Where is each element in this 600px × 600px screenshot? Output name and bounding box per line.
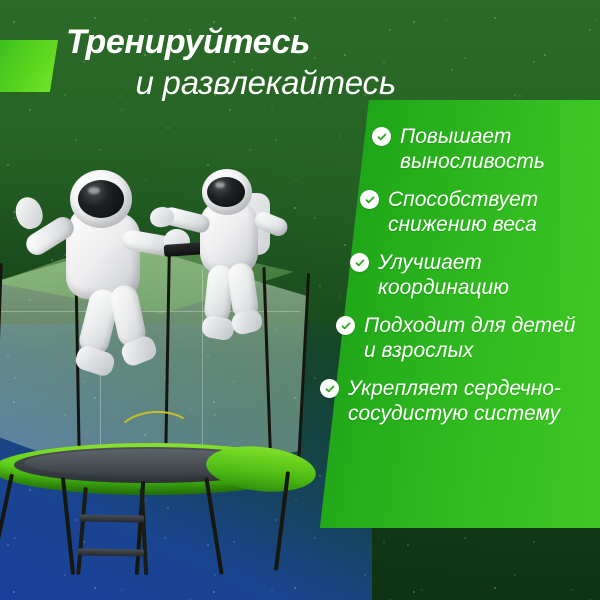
trampoline-illustration: [0, 215, 340, 575]
ladder-step: [80, 514, 144, 522]
benefit-text: Подходит для детей и взрослых: [364, 313, 578, 363]
astronaut-visor: [78, 180, 124, 218]
check-circle-icon: [350, 253, 369, 272]
promo-banner: Тренируйтесь и развлекайтесь Повышает вы…: [0, 0, 600, 600]
check-circle-icon: [372, 127, 391, 146]
benefit-text: Способствует снижению веса: [388, 187, 594, 237]
page-title: Тренируйтесь и развлекайтесь: [66, 22, 396, 103]
accent-shape-left: [0, 40, 58, 92]
list-item: Повышает выносливость: [310, 124, 594, 174]
benefit-text: Укрепляет сердечно-сосудистую систему: [348, 376, 562, 426]
astronaut-helmet: [202, 169, 252, 215]
headline-line-2: и развлекайтесь: [66, 63, 396, 103]
check-circle-icon: [320, 379, 339, 398]
astronaut-right: [170, 167, 310, 377]
ladder-rail: [140, 489, 148, 575]
ladder-rail: [76, 487, 88, 575]
visor-glint: [215, 182, 225, 187]
astronaut-boot-left: [73, 344, 117, 379]
check-circle-icon: [336, 316, 355, 335]
headline-line-1: Тренируйтесь: [66, 22, 396, 62]
trampoline-leg: [0, 474, 14, 569]
list-item: Подходит для детей и взрослых: [310, 313, 594, 363]
ladder-step: [78, 548, 144, 556]
visor-glint: [88, 187, 100, 194]
check-circle-icon: [360, 190, 379, 209]
list-item: Способствует снижению веса: [310, 187, 594, 237]
benefit-text: Повышает выносливость: [400, 124, 594, 174]
astronaut-helmet: [70, 170, 132, 228]
benefits-list: Повышает выносливость Способствует сниже…: [310, 100, 600, 528]
list-item: Укрепляет сердечно-сосудистую систему: [310, 376, 594, 426]
astronaut-boot-left: [200, 314, 235, 341]
list-item: Улучшает координацию: [310, 250, 594, 300]
astronaut-visor: [207, 177, 245, 207]
benefit-text: Улучшает координацию: [378, 250, 592, 300]
